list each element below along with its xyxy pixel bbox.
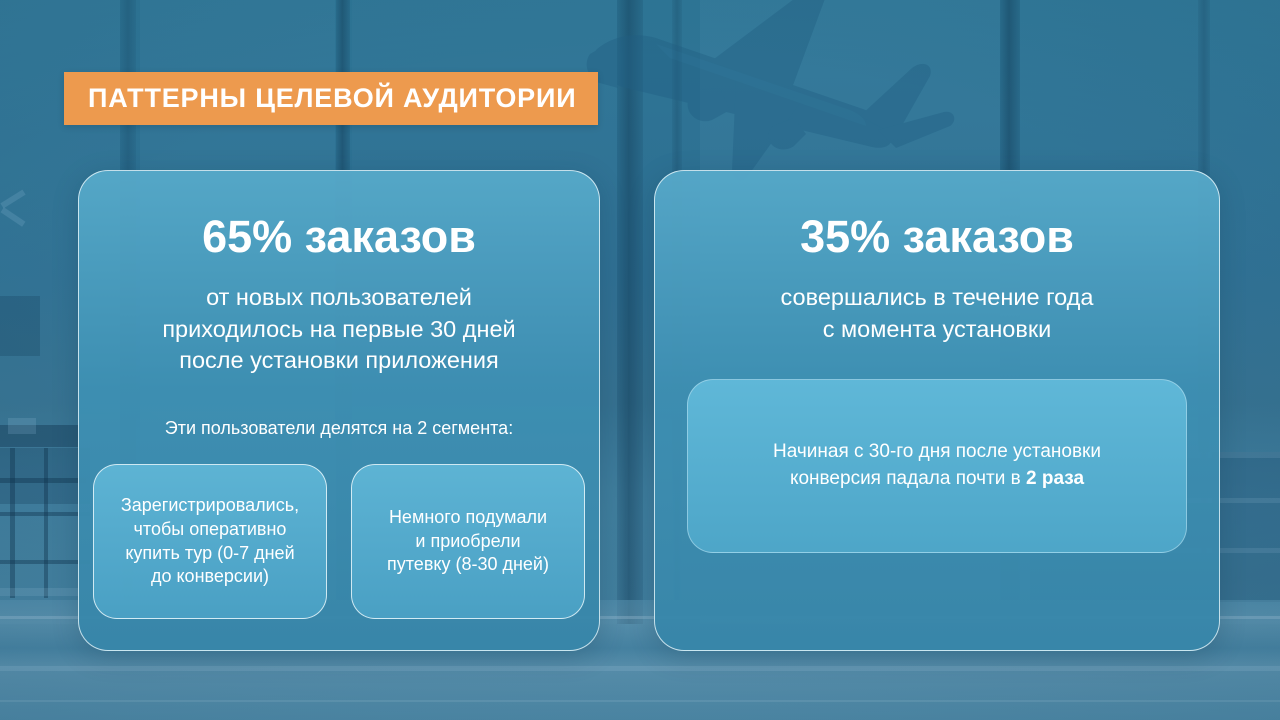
- floor-line: [0, 700, 1280, 702]
- conversion-note-text: Начиная с 30-го дня после установки конв…: [773, 439, 1101, 493]
- conversion-note-line1: Начиная с 30-го дня после установки: [773, 439, 1101, 466]
- slide-canvas: ПАТТЕРНЫ ЦЕЛЕВОЙ АУДИТОРИИ 65% заказов о…: [0, 0, 1280, 720]
- right-card-lead-line: совершались в течение года: [781, 282, 1094, 313]
- floor-line: [0, 666, 1280, 671]
- segment-1-line: чтобы оперативно: [121, 518, 299, 542]
- right-card-content: 35% заказов совершались в течение года с…: [655, 171, 1219, 650]
- terminal-structure: [8, 418, 36, 434]
- conversion-note-line2: конверсия падала почти в 2 раза: [773, 466, 1101, 493]
- left-card-stat: 65% заказов: [202, 213, 476, 260]
- segment-card-2: Немного подумали и приобрели путевку (8-…: [351, 464, 585, 619]
- segment-1-line: купить тур (0-7 дней: [121, 542, 299, 566]
- right-card-lead-line: с момента установки: [781, 314, 1094, 345]
- left-card-lead-line: приходилось на первые 30 дней: [162, 314, 515, 345]
- left-card-lead-line: от новых пользователей: [162, 282, 515, 313]
- right-card-lead: совершались в течение года с момента уст…: [781, 282, 1094, 345]
- terminal-structure: [0, 512, 90, 516]
- conversion-note-line2-emphasis: 2 раза: [1026, 468, 1084, 489]
- left-card-content: 65% заказов от новых пользователей прихо…: [79, 171, 599, 650]
- segment-card-1: Зарегистрировались, чтобы оперативно куп…: [93, 464, 327, 619]
- conversion-note-line2-prefix: конверсия падала почти в: [790, 468, 1026, 489]
- left-card-subnote: Эти пользователи делятся на 2 сегмента:: [165, 417, 513, 440]
- segment-1-text: Зарегистрировались, чтобы оперативно куп…: [121, 494, 299, 589]
- left-card-lead: от новых пользователей приходилось на пе…: [162, 282, 515, 376]
- right-stat-card: 35% заказов совершались в течение года с…: [654, 170, 1220, 651]
- segment-1-line: Зарегистрировались,: [121, 494, 299, 518]
- segment-list: Зарегистрировались, чтобы оперативно куп…: [93, 464, 585, 619]
- segment-1-line: до конверсии): [121, 565, 299, 589]
- page-title-text: ПАТТЕРНЫ ЦЕЛЕВОЙ АУДИТОРИИ: [88, 85, 576, 112]
- airplane-silhouette: [560, 0, 980, 184]
- left-stat-card: 65% заказов от новых пользователей прихо…: [78, 170, 600, 651]
- terminal-structure: [44, 448, 48, 598]
- conversion-note-box: Начиная с 30-го дня после установки конв…: [687, 379, 1187, 553]
- segment-2-line: и приобрели: [387, 530, 549, 554]
- terminal-structure: [0, 560, 90, 564]
- terminal-structure: [0, 296, 40, 356]
- right-card-stat: 35% заказов: [800, 213, 1074, 260]
- left-card-lead-line: после установки приложения: [162, 345, 515, 376]
- segment-2-text: Немного подумали и приобрели путевку (8-…: [387, 506, 549, 577]
- page-title: ПАТТЕРНЫ ЦЕЛЕВОЙ АУДИТОРИИ: [64, 72, 598, 125]
- terminal-structure: [0, 588, 80, 596]
- segment-2-line: Немного подумали: [387, 506, 549, 530]
- terminal-structure: [10, 448, 15, 598]
- segment-2-line: путевку (8-30 дней): [387, 553, 549, 577]
